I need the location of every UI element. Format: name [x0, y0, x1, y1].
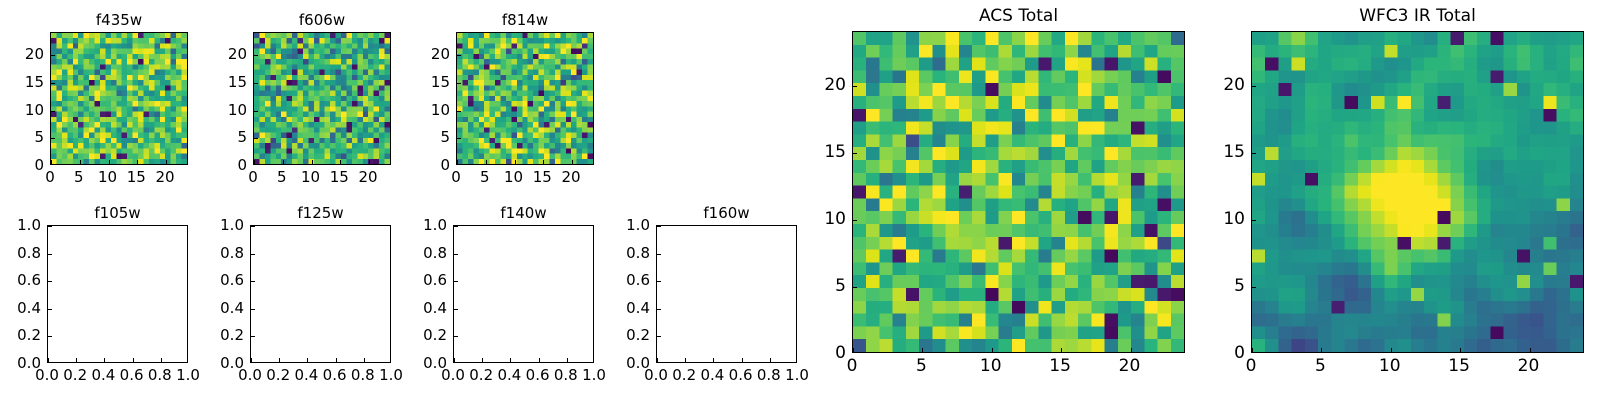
x-tick-label: 0.2 [469, 366, 493, 384]
y-tick-mark [853, 220, 857, 221]
plot-area-f140w [453, 225, 594, 363]
x-tick-mark [364, 358, 365, 362]
plot-area-f814w [456, 32, 594, 165]
x-tick-label: 0 [248, 168, 258, 186]
panel-title-acs-total: ACS Total [979, 6, 1058, 26]
y-tick-mark [853, 287, 857, 288]
plot-area-f125w [250, 225, 391, 363]
x-tick-mark [133, 358, 134, 362]
x-tick-label: 1.0 [379, 366, 403, 384]
x-tick-label: 15 [1448, 356, 1470, 376]
y-tick-mark [454, 226, 458, 227]
y-tick-label: 1.0 [423, 216, 447, 234]
panel-wfc3-ir-total: WFC3 IR Total0510152005101520 [1251, 31, 1584, 353]
x-tick-mark [254, 160, 255, 164]
x-tick-mark [770, 358, 771, 362]
y-tick-label: 20 [25, 45, 44, 63]
x-tick-label: 10 [1379, 356, 1401, 376]
plot-area-f435w [50, 32, 188, 165]
y-tick-mark [657, 254, 661, 255]
y-tick-label: 0.0 [17, 354, 41, 372]
heatmap-image [51, 33, 187, 164]
y-tick-label: 0.8 [220, 244, 244, 262]
x-tick-mark [486, 160, 487, 164]
y-tick-label: 20 [228, 45, 247, 63]
y-tick-mark [1252, 86, 1256, 87]
y-tick-label: 10 [228, 101, 247, 119]
panel-f435w: f435w0510152005101520 [50, 32, 188, 165]
heatmap-image [254, 33, 390, 164]
x-tick-mark [1460, 348, 1461, 352]
y-tick-label: 0.6 [423, 271, 447, 289]
x-tick-label: 10 [980, 356, 1002, 376]
x-tick-mark [1321, 348, 1322, 352]
y-tick-mark [457, 55, 461, 56]
y-tick-mark [457, 83, 461, 84]
x-tick-mark [283, 160, 284, 164]
y-tick-mark [454, 254, 458, 255]
x-tick-label: 5 [916, 356, 927, 376]
x-tick-mark [1252, 348, 1253, 352]
x-tick-label: 1.0 [582, 366, 606, 384]
x-tick-label: 20 [155, 168, 174, 186]
y-tick-mark [51, 111, 55, 112]
y-tick-label: 10 [25, 101, 44, 119]
y-tick-mark [657, 309, 661, 310]
x-tick-label: 0.2 [266, 366, 290, 384]
x-tick-label: 5 [480, 168, 490, 186]
y-tick-mark [454, 336, 458, 337]
x-tick-label: 0.2 [672, 366, 696, 384]
panel-title-f125w: f125w [297, 204, 343, 222]
x-tick-mark [657, 358, 658, 362]
panel-f125w: f125w0.00.20.40.60.81.00.00.20.40.60.81.… [250, 225, 391, 363]
y-tick-label: 20 [431, 45, 450, 63]
y-tick-mark [254, 138, 258, 139]
y-tick-label: 0.8 [423, 244, 447, 262]
y-tick-mark [254, 111, 258, 112]
y-tick-label: 0.4 [17, 299, 41, 317]
plot-area-f105w [47, 225, 188, 363]
x-tick-label: 0.8 [148, 366, 172, 384]
panel-title-f105w: f105w [94, 204, 140, 222]
x-tick-mark [369, 160, 370, 164]
y-tick-label: 15 [431, 73, 450, 91]
y-tick-mark [251, 254, 255, 255]
y-tick-label: 1.0 [626, 216, 650, 234]
figure-canvas: f435w0510152005101520f606w05101520051015… [0, 0, 1600, 400]
x-tick-label: 15 [330, 168, 349, 186]
x-tick-mark [312, 160, 313, 164]
x-tick-mark [76, 358, 77, 362]
x-tick-mark [543, 160, 544, 164]
panel-title-f160w: f160w [703, 204, 749, 222]
y-tick-mark [251, 309, 255, 310]
y-tick-mark [1252, 153, 1256, 154]
x-tick-label: 0.6 [729, 366, 753, 384]
x-tick-label: 10 [98, 168, 117, 186]
y-tick-mark [657, 336, 661, 337]
x-tick-label: 1.0 [176, 366, 200, 384]
x-tick-mark [1530, 348, 1531, 352]
x-tick-mark [279, 358, 280, 362]
x-tick-label: 0.4 [91, 366, 115, 384]
x-tick-label: 0 [847, 356, 858, 376]
x-tick-mark [567, 358, 568, 362]
x-tick-mark [482, 358, 483, 362]
x-tick-label: 0.6 [323, 366, 347, 384]
y-tick-mark [251, 281, 255, 282]
y-tick-label: 10 [431, 101, 450, 119]
x-tick-mark [137, 160, 138, 164]
y-tick-label: 15 [25, 73, 44, 91]
y-tick-label: 0 [835, 343, 846, 363]
y-tick-mark [48, 281, 52, 282]
y-tick-label: 15 [228, 73, 247, 91]
x-tick-label: 5 [277, 168, 287, 186]
y-tick-mark [457, 111, 461, 112]
y-tick-label: 0.2 [626, 326, 650, 344]
x-tick-label: 20 [1518, 356, 1540, 376]
panel-f606w: f606w0510152005101520 [253, 32, 391, 165]
x-tick-mark [685, 358, 686, 362]
x-tick-mark [166, 160, 167, 164]
x-tick-label: 5 [1315, 356, 1326, 376]
y-tick-label: 10 [824, 209, 846, 229]
y-tick-label: 0.6 [626, 271, 650, 289]
y-tick-mark [454, 309, 458, 310]
x-tick-mark [572, 160, 573, 164]
x-tick-mark [1391, 348, 1392, 352]
x-tick-mark [454, 358, 455, 362]
x-tick-label: 0 [45, 168, 55, 186]
y-tick-mark [853, 86, 857, 87]
y-tick-label: 0.6 [220, 271, 244, 289]
y-tick-label: 0.2 [423, 326, 447, 344]
x-tick-mark [1061, 348, 1062, 352]
y-tick-mark [251, 226, 255, 227]
y-tick-label: 0.2 [17, 326, 41, 344]
y-tick-label: 1.0 [17, 216, 41, 234]
x-tick-mark [992, 348, 993, 352]
plot-area-f160w [656, 225, 797, 363]
y-tick-label: 0 [237, 156, 247, 174]
y-tick-mark [254, 55, 258, 56]
y-tick-mark [454, 281, 458, 282]
y-tick-label: 0.8 [17, 244, 41, 262]
y-tick-mark [1252, 220, 1256, 221]
y-tick-label: 0.4 [423, 299, 447, 317]
x-tick-mark [307, 358, 308, 362]
y-tick-mark [853, 153, 857, 154]
y-tick-label: 5 [1234, 276, 1245, 296]
panel-title-f814w: f814w [502, 11, 548, 29]
x-tick-mark [457, 160, 458, 164]
y-tick-label: 0 [34, 156, 44, 174]
x-tick-label: 1.0 [785, 366, 809, 384]
y-tick-label: 5 [34, 128, 44, 146]
x-tick-mark [515, 160, 516, 164]
x-tick-label: 0 [451, 168, 461, 186]
y-tick-mark [48, 254, 52, 255]
x-tick-mark [251, 358, 252, 362]
y-tick-label: 0.4 [626, 299, 650, 317]
x-tick-label: 0 [1246, 356, 1257, 376]
y-tick-label: 0.2 [220, 326, 244, 344]
y-tick-mark [657, 226, 661, 227]
y-tick-mark [51, 138, 55, 139]
panel-title-f606w: f606w [299, 11, 345, 29]
y-tick-label: 15 [1223, 142, 1245, 162]
x-tick-label: 10 [301, 168, 320, 186]
x-tick-label: 10 [504, 168, 523, 186]
y-tick-label: 5 [835, 276, 846, 296]
x-tick-mark [109, 160, 110, 164]
y-tick-mark [254, 83, 258, 84]
x-tick-mark [1131, 348, 1132, 352]
x-tick-label: 20 [561, 168, 580, 186]
heatmap-image [457, 33, 593, 164]
x-tick-mark [742, 358, 743, 362]
plot-area-wfc3-ir-total [1251, 31, 1584, 353]
y-tick-mark [48, 336, 52, 337]
panel-title-wfc3-ir-total: WFC3 IR Total [1359, 6, 1476, 26]
y-tick-label: 15 [824, 142, 846, 162]
y-tick-label: 0.4 [220, 299, 244, 317]
y-tick-mark [48, 226, 52, 227]
panel-f160w: f160w0.00.20.40.60.81.00.00.20.40.60.81.… [656, 225, 797, 363]
y-tick-mark [1252, 287, 1256, 288]
y-tick-label: 20 [1223, 75, 1245, 95]
x-tick-label: 15 [1049, 356, 1071, 376]
y-tick-mark [457, 138, 461, 139]
x-tick-label: 15 [127, 168, 146, 186]
panel-title-f435w: f435w [96, 11, 142, 29]
plot-area-acs-total [852, 31, 1185, 353]
x-tick-label: 5 [74, 168, 84, 186]
x-tick-mark [48, 358, 49, 362]
x-tick-label: 0.4 [497, 366, 521, 384]
x-tick-mark [510, 358, 511, 362]
y-tick-mark [51, 55, 55, 56]
heatmap-image [1252, 32, 1583, 352]
x-tick-label: 0.6 [526, 366, 550, 384]
y-tick-mark [251, 336, 255, 337]
y-tick-label: 0.6 [17, 271, 41, 289]
x-tick-label: 20 [358, 168, 377, 186]
x-tick-label: 20 [1119, 356, 1141, 376]
y-tick-mark [51, 83, 55, 84]
y-tick-label: 5 [237, 128, 247, 146]
x-tick-mark [161, 358, 162, 362]
plot-area-f606w [253, 32, 391, 165]
heatmap-image [853, 32, 1184, 352]
panel-title-f140w: f140w [500, 204, 546, 222]
x-tick-label: 0.4 [700, 366, 724, 384]
y-tick-mark [657, 281, 661, 282]
x-tick-label: 0.8 [757, 366, 781, 384]
x-tick-mark [80, 160, 81, 164]
x-tick-label: 15 [533, 168, 552, 186]
y-tick-label: 0.0 [220, 354, 244, 372]
x-tick-label: 0.8 [351, 366, 375, 384]
x-tick-mark [51, 160, 52, 164]
x-tick-mark [104, 358, 105, 362]
y-tick-label: 1.0 [220, 216, 244, 234]
y-tick-label: 20 [824, 75, 846, 95]
y-tick-label: 0.0 [626, 354, 650, 372]
y-tick-label: 0 [440, 156, 450, 174]
x-tick-label: 0.2 [63, 366, 87, 384]
x-tick-label: 0.6 [120, 366, 144, 384]
panel-f140w: f140w0.00.20.40.60.81.00.00.20.40.60.81.… [453, 225, 594, 363]
panel-acs-total: ACS Total0510152005101520 [852, 31, 1185, 353]
x-tick-mark [539, 358, 540, 362]
x-tick-mark [340, 160, 341, 164]
x-tick-mark [853, 348, 854, 352]
y-tick-label: 0 [1234, 343, 1245, 363]
x-tick-label: 0.4 [294, 366, 318, 384]
y-tick-mark [48, 309, 52, 310]
y-tick-label: 0.0 [423, 354, 447, 372]
x-tick-mark [713, 358, 714, 362]
x-tick-mark [336, 358, 337, 362]
panel-f105w: f105w0.00.20.40.60.81.00.00.20.40.60.81.… [47, 225, 188, 363]
x-tick-mark [922, 348, 923, 352]
y-tick-label: 10 [1223, 209, 1245, 229]
panel-f814w: f814w0510152005101520 [456, 32, 594, 165]
y-tick-label: 0.8 [626, 244, 650, 262]
y-tick-label: 5 [440, 128, 450, 146]
x-tick-label: 0.8 [554, 366, 578, 384]
